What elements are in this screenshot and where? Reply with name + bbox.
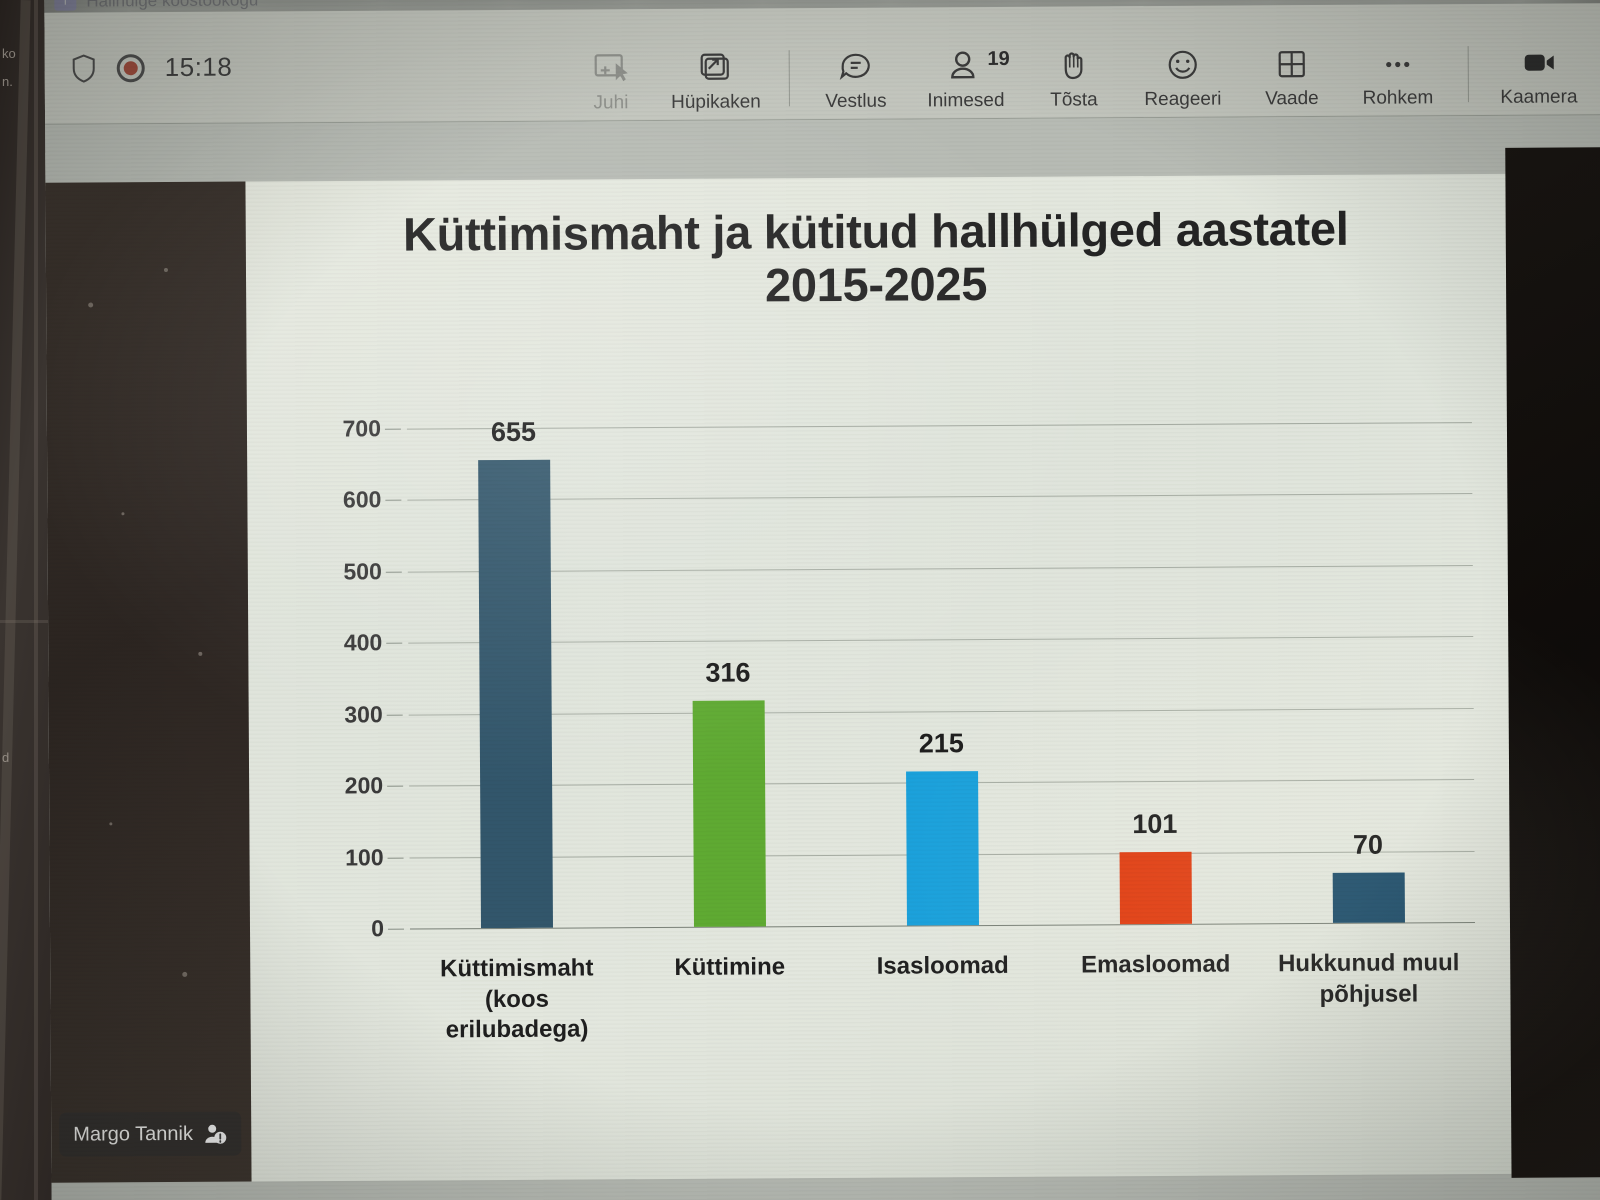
y-tick-mark	[385, 500, 401, 501]
share-control-icon	[591, 46, 631, 86]
bar-value-label: 70	[1353, 830, 1383, 861]
control-vestlus-label: Vestlus	[825, 92, 886, 111]
bar-chart-plot: 0100200300400500600700 655Küttimismaht(k…	[407, 422, 1475, 928]
more-ellipsis-icon	[1380, 41, 1416, 81]
y-tick-label: 600	[343, 487, 382, 514]
y-tick-label: 400	[344, 630, 383, 657]
y-tick-mark	[388, 929, 404, 930]
control-hupikaken[interactable]: Hüpikaken	[657, 30, 776, 127]
x-axis-label: Küttimine	[615, 952, 845, 984]
x-axis-label: Isasloomad	[828, 951, 1058, 983]
control-hupikaken-label: Hüpikaken	[671, 92, 761, 112]
bar-value-label: 101	[1132, 809, 1177, 840]
participant-nametag: Margo Tannik	[59, 1112, 241, 1157]
control-vaade[interactable]: Vaade	[1242, 27, 1343, 124]
x-axis-label-line: (koos	[402, 984, 632, 1016]
x-axis-label: Emasloomad	[1041, 949, 1271, 981]
x-axis-label-line: erilubadega)	[402, 1015, 632, 1047]
bar-value-label: 655	[491, 417, 536, 448]
bar-group: 215Isasloomad	[833, 425, 1049, 926]
meeting-stage: Küttimismaht ja kütitud hallhülged aasta…	[45, 115, 1600, 1200]
y-tick-label: 300	[344, 701, 383, 728]
chart-title-line1: Küttimismaht ja kütitud hallhülged aasta…	[306, 202, 1446, 262]
record-indicator-icon	[117, 54, 145, 82]
bar	[692, 701, 765, 927]
x-axis-label-line: Küttimismaht	[402, 953, 632, 985]
y-tick-mark	[387, 786, 403, 787]
control-rohkem[interactable]: Rohkem	[1342, 26, 1455, 123]
y-tick-label: 500	[343, 558, 382, 585]
participant-video-right[interactable]	[1505, 147, 1600, 1178]
camera-icon	[1519, 41, 1559, 81]
toolbar-divider-1	[789, 50, 790, 106]
bar-group: 316Küttimine	[620, 426, 836, 927]
y-tick-label: 200	[345, 772, 384, 799]
control-rohkem-label: Rohkem	[1363, 88, 1434, 107]
control-inimesed[interactable]: 19 Inimesed	[908, 29, 1025, 126]
emoji-smile-icon	[1165, 43, 1201, 83]
control-reageeri-label: Reageeri	[1144, 90, 1221, 109]
bar-group: 70Hukkunud muulpõhjusel	[1259, 422, 1475, 923]
y-tick-mark	[388, 857, 404, 858]
chart-title: Küttimismaht ja kütitud hallhülged aasta…	[306, 202, 1447, 314]
y-tick-label: 100	[345, 844, 384, 871]
control-vaade-label: Vaade	[1265, 89, 1319, 108]
control-tosta[interactable]: Tõsta	[1024, 28, 1125, 125]
bar-value-label: 215	[919, 729, 964, 760]
y-tick-mark	[386, 643, 402, 644]
chat-bubble-icon	[836, 45, 876, 85]
presenter-icon	[203, 1122, 227, 1146]
control-reageeri[interactable]: Reageeri	[1124, 27, 1243, 124]
bar-group: 101Emasloomad	[1046, 423, 1262, 924]
bar-group: 655Küttimismaht(kooserilubadega)	[407, 427, 623, 928]
control-juhi[interactable]: Juhi	[565, 31, 658, 128]
window-title-text: Hallhülge koostöökogu	[86, 0, 258, 12]
popout-window-icon	[696, 46, 736, 86]
raise-hand-icon	[1056, 43, 1092, 83]
bar-value-label: 316	[705, 658, 750, 689]
control-inimesed-label: Inimesed	[927, 91, 1004, 110]
control-tosta-label: Tõsta	[1050, 90, 1098, 109]
chart-title-line2: 2015-2025	[306, 255, 1446, 315]
x-axis-label-line: põhjusel	[1254, 979, 1484, 1011]
y-tick-label: 0	[371, 915, 384, 942]
bar	[1332, 872, 1404, 922]
control-vestlus[interactable]: Vestlus	[804, 30, 909, 127]
y-tick-mark	[387, 714, 403, 715]
y-tick-mark	[386, 571, 402, 572]
meeting-elapsed-time: 15:18	[165, 52, 233, 83]
control-juhi-label: Juhi	[593, 93, 628, 112]
teams-icon: T	[54, 0, 76, 11]
y-tick-label: 700	[342, 415, 381, 442]
y-tick-mark	[385, 429, 401, 430]
bar	[1119, 852, 1191, 925]
control-kaamera-label: Kaamera	[1500, 87, 1577, 106]
meeting-status-cluster: 15:18	[71, 52, 233, 84]
projected-screen-photo: ko n. d T Hallhülge koostöökogu 15:18	[0, 0, 1600, 1200]
people-icon: 19	[948, 44, 984, 84]
bar-series: 655Küttimismaht(kooserilubadega)316Kütti…	[407, 422, 1475, 928]
x-axis-label-line: Emasloomad	[1041, 949, 1271, 981]
x-axis-label-line: Isasloomad	[828, 951, 1058, 983]
meeting-window: T Hallhülge koostöökogu 15:18	[44, 0, 1600, 1200]
control-kaamera[interactable]: Kaamera	[1483, 25, 1596, 122]
bar	[478, 460, 553, 928]
bar	[906, 772, 979, 926]
shield-icon[interactable]	[71, 53, 97, 83]
grid-view-icon	[1274, 42, 1310, 82]
meeting-toolbar: 15:18 Juhi	[44, 3, 1600, 125]
x-axis-label: Küttimismaht(kooserilubadega)	[402, 953, 633, 1047]
x-axis-label: Hukkunud muulpõhjusel	[1254, 948, 1484, 1011]
participant-name: Margo Tannik	[73, 1122, 193, 1146]
toolbar-divider-2	[1468, 46, 1469, 102]
shared-slide: Küttimismaht ja kütitud hallhülged aasta…	[245, 174, 1511, 1182]
participant-count-badge: 19	[987, 48, 1009, 71]
participant-video-left[interactable]: Margo Tannik	[45, 182, 251, 1183]
x-axis-label-line: Hukkunud muul	[1254, 948, 1484, 980]
x-axis-label-line: Küttimine	[615, 952, 845, 984]
